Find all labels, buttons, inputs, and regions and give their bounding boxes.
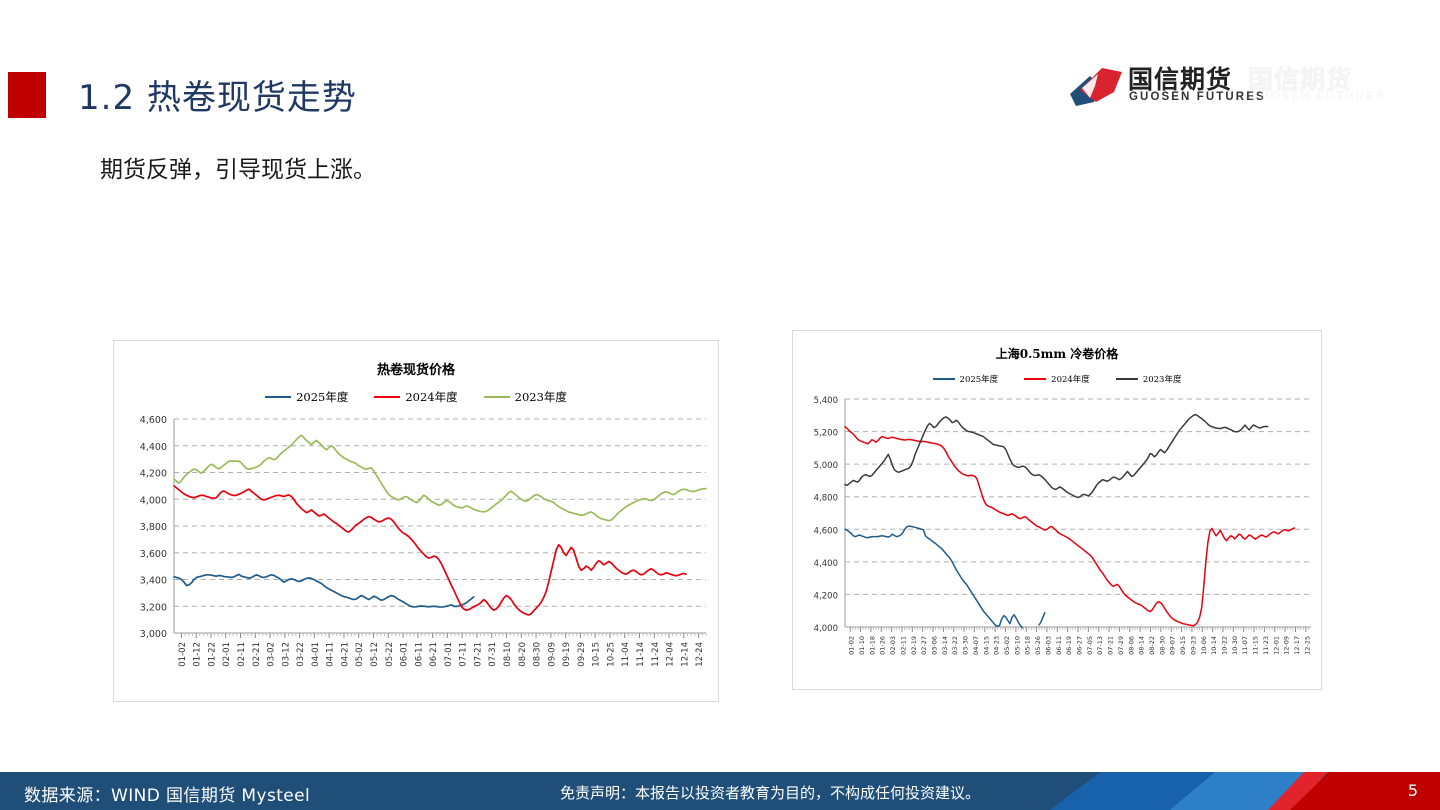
x-axis-tick: 11-15 (1252, 636, 1260, 655)
y-axis-tick: 3,800 (140, 522, 167, 533)
series-line-2023年度 (174, 435, 706, 520)
chart-hot-rolled-spot-price: 热卷现货价格 2025年度 2024年度 2023年度 3,0003,2003,… (113, 340, 719, 702)
x-axis-tick: 12-04 (666, 642, 676, 667)
x-axis-tick: 11-07 (1241, 636, 1249, 655)
x-axis-tick: 03-06 (931, 636, 939, 655)
y-axis-tick: 3,400 (140, 576, 167, 587)
x-axis-tick: 12-14 (680, 642, 690, 667)
x-axis-tick: 11-14 (636, 642, 646, 667)
y-axis-tick: 4,000 (814, 624, 838, 634)
title-accent-block (8, 72, 46, 118)
x-axis-tick: 01-02 (178, 642, 188, 667)
x-axis-tick: 06-03 (1044, 636, 1052, 655)
x-axis-tick: 05-02 (1003, 636, 1011, 655)
x-axis-tick: 01-18 (868, 636, 876, 655)
series-line-2023年度 (845, 414, 1268, 497)
y-axis-tick: 4,200 (814, 591, 838, 601)
x-axis-tick: 10-14 (1210, 636, 1218, 655)
x-axis-tick: 06-21 (429, 642, 439, 667)
x-axis-tick: 06-27 (1076, 636, 1084, 655)
y-axis-tick: 4,000 (140, 495, 167, 506)
y-axis-tick: 5,400 (814, 396, 838, 406)
y-axis-tick: 3,200 (140, 602, 167, 613)
x-axis-tick: 05-10 (1013, 636, 1021, 655)
x-axis-tick: 07-01 (444, 642, 454, 667)
x-axis-tick: 02-11 (237, 642, 247, 667)
y-axis-tick: 4,400 (140, 442, 167, 453)
y-axis-tick: 4,600 (140, 415, 167, 426)
x-axis-tick: 01-12 (193, 642, 203, 667)
x-axis-tick: 03-30 (962, 636, 970, 655)
x-axis-tick: 09-07 (1169, 636, 1177, 655)
x-axis-tick: 01-26 (879, 636, 887, 655)
x-axis-tick: 08-22 (1148, 636, 1156, 655)
x-axis-tick: 07-31 (488, 642, 498, 667)
x-axis-tick: 08-20 (518, 642, 528, 667)
x-axis-tick: 11-24 (651, 642, 661, 667)
data-source-label: 数据来源：WIND 国信期货 Mysteel (24, 781, 310, 806)
x-axis-tick: 08-30 (1158, 636, 1166, 655)
x-axis-tick: 02-27 (920, 636, 928, 655)
x-axis-tick: 09-29 (577, 642, 587, 667)
x-axis-tick: 04-07 (972, 636, 980, 655)
x-axis-tick: 10-22 (1220, 636, 1228, 655)
x-axis-tick: 09-19 (562, 642, 572, 667)
disclaimer-label: 免责声明：本报告以投资者教育为目的，不构成任何投资建议。 (560, 782, 980, 803)
series-line-2025年度 (845, 526, 1022, 628)
x-axis-tick: 09-09 (547, 642, 557, 667)
x-axis-tick: 11-04 (621, 642, 631, 667)
y-axis-tick: 3,000 (140, 629, 167, 640)
x-axis-tick: 04-01 (311, 642, 321, 667)
y-axis-tick: 5,200 (814, 429, 838, 439)
y-axis-tick: 3,600 (140, 549, 167, 560)
y-axis-tick: 5,000 (814, 461, 838, 471)
chart-plot-area: 3,0003,2003,4003,6003,8004,0004,2004,400… (114, 341, 718, 701)
series-line-2024年度 (174, 486, 686, 615)
x-axis-tick: 12-25 (1303, 636, 1311, 655)
page-title: 1.2 热卷现货走势 (78, 70, 357, 119)
y-axis-tick: 4,800 (814, 494, 838, 504)
x-axis-tick: 01-02 (848, 636, 856, 655)
x-axis-tick: 09-15 (1179, 636, 1187, 655)
x-axis-tick: 08-14 (1138, 636, 1146, 655)
x-axis-tick: 02-11 (899, 636, 907, 655)
x-axis-tick: 08-30 (533, 642, 543, 667)
x-axis-tick: 05-18 (1024, 636, 1032, 655)
x-axis-tick: 05-26 (1034, 636, 1042, 655)
x-axis-tick: 03-02 (267, 642, 277, 667)
x-axis-tick: 06-19 (1065, 636, 1073, 655)
chart-svg: 3,0003,2003,4003,6003,8004,0004,2004,400… (114, 341, 718, 701)
x-axis-tick: 10-30 (1231, 636, 1239, 655)
chart-shanghai-cold-rolled-price: 上海0.5mm 冷卷价格 2025年度 2024年度 2023年度 4,0004… (792, 330, 1322, 690)
x-axis-tick: 08-10 (503, 642, 513, 667)
x-axis-tick: 10-15 (592, 642, 602, 667)
page-footer: 数据来源：WIND 国信期货 Mysteel 免责声明：本报告以投资者教育为目的… (0, 772, 1440, 810)
x-axis-tick: 02-03 (889, 636, 897, 655)
y-axis-tick: 4,400 (814, 559, 838, 569)
y-axis-tick: 4,200 (140, 469, 167, 480)
x-axis-tick: 01-22 (207, 642, 217, 667)
x-axis-tick: 10-06 (1200, 636, 1208, 655)
logo-watermark: 国信期货 GUOSEN FUTURES (1188, 58, 1398, 114)
x-axis-tick: 07-21 (1107, 636, 1115, 655)
chart-svg: 4,0004,2004,4004,6004,8005,0005,2005,400… (793, 331, 1321, 689)
x-axis-tick: 01-10 (858, 636, 866, 655)
logo-watermark-en: GUOSEN FUTURES (1249, 91, 1386, 103)
x-axis-tick: 12-17 (1293, 636, 1301, 655)
x-axis-tick: 09-23 (1189, 636, 1197, 655)
x-axis-tick: 05-02 (355, 642, 365, 667)
page-subtitle: 期货反弹，引导现货上涨。 (100, 150, 376, 184)
page-number: 5 (1408, 781, 1418, 800)
x-axis-tick: 12-01 (1272, 636, 1280, 655)
x-axis-tick: 07-05 (1086, 636, 1094, 655)
x-axis-tick: 03-14 (941, 636, 949, 655)
x-axis-tick: 07-29 (1117, 636, 1125, 655)
x-axis-tick: 08-06 (1127, 636, 1135, 655)
x-axis-tick: 06-11 (414, 642, 424, 667)
x-axis-tick: 02-21 (252, 642, 262, 667)
x-axis-tick: 07-13 (1096, 636, 1104, 655)
x-axis-tick: 02-19 (910, 636, 918, 655)
x-axis-tick: 07-11 (459, 642, 469, 667)
chart-plot-area: 4,0004,2004,4004,6004,8005,0005,2005,400… (793, 331, 1321, 689)
x-axis-tick: 04-23 (993, 636, 1001, 655)
x-axis-tick: 03-22 (296, 642, 306, 667)
series-line-tail-2025年度 (1039, 612, 1045, 625)
x-axis-tick: 07-21 (473, 642, 483, 667)
x-axis-tick: 05-22 (385, 642, 395, 667)
x-axis-tick: 10-25 (606, 642, 616, 667)
x-axis-tick: 05-12 (370, 642, 380, 667)
x-axis-tick: 04-21 (340, 642, 350, 667)
x-axis-tick: 11-23 (1262, 636, 1270, 655)
x-axis-tick: 03-12 (281, 642, 291, 667)
guosen-logo-mark (1068, 58, 1126, 110)
x-axis-tick: 02-01 (222, 642, 232, 667)
x-axis-tick: 03-22 (951, 636, 959, 655)
y-axis-tick: 4,600 (814, 526, 838, 536)
x-axis-tick: 06-01 (400, 642, 410, 667)
x-axis-tick: 04-15 (982, 636, 990, 655)
x-axis-tick: 06-11 (1055, 636, 1063, 655)
x-axis-tick: 04-11 (326, 642, 336, 667)
x-axis-tick: 12-24 (695, 642, 705, 667)
x-axis-tick: 12-09 (1283, 636, 1291, 655)
